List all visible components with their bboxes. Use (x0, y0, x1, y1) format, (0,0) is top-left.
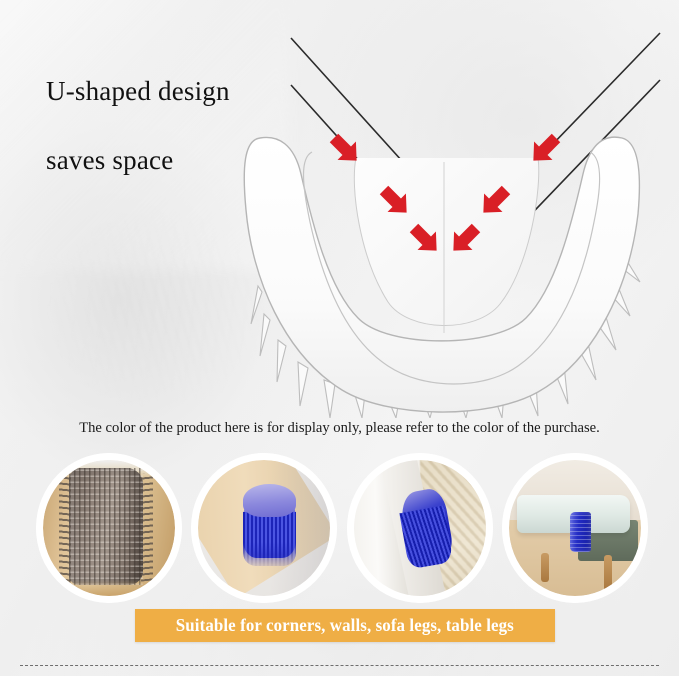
bed-leg-left (541, 553, 549, 583)
product-infographic-page: U-shaped design saves space (0, 0, 679, 676)
suitability-banner: Suitable for corners, walls, sofa legs, … (135, 609, 555, 642)
grey-brush-body (69, 468, 143, 585)
headline-line-2: saves space (46, 145, 173, 176)
brush-bristle-edge-right (141, 472, 153, 581)
photo-brush-on-sofa-bed-leg (509, 460, 641, 596)
bed-leg-right (604, 555, 612, 590)
wood-surface-bottom (43, 580, 175, 596)
blue-brush-bristles (570, 512, 591, 553)
headline-line-1: U-shaped design (46, 76, 230, 107)
u-shaped-product-illustration (238, 118, 668, 418)
blue-brush-bristles (243, 512, 296, 566)
product-inner-cavity (354, 158, 538, 326)
gallery-item-brush-on-sofa-bed-leg[interactable] (502, 453, 648, 603)
blue-brush-cap (243, 484, 296, 517)
product-usage-gallery (36, 452, 648, 604)
gallery-item-brush-on-wooden-table-leg[interactable] (36, 453, 182, 603)
bottom-dashed-divider (20, 665, 659, 666)
suitability-banner-text: Suitable for corners, walls, sofa legs, … (176, 615, 514, 636)
gallery-item-brush-on-door-frame[interactable] (347, 453, 493, 603)
brush-bristle-edge-left (59, 472, 71, 581)
photo-brush-on-wall-corner (198, 460, 330, 596)
photo-brush-on-door-frame (354, 460, 486, 596)
brush-bristle-texture (69, 468, 143, 585)
photo-brush-on-wooden-table-leg (43, 460, 175, 596)
gallery-item-brush-on-wall-corner[interactable] (191, 453, 337, 603)
color-disclaimer-text: The color of the product here is for dis… (0, 420, 679, 437)
